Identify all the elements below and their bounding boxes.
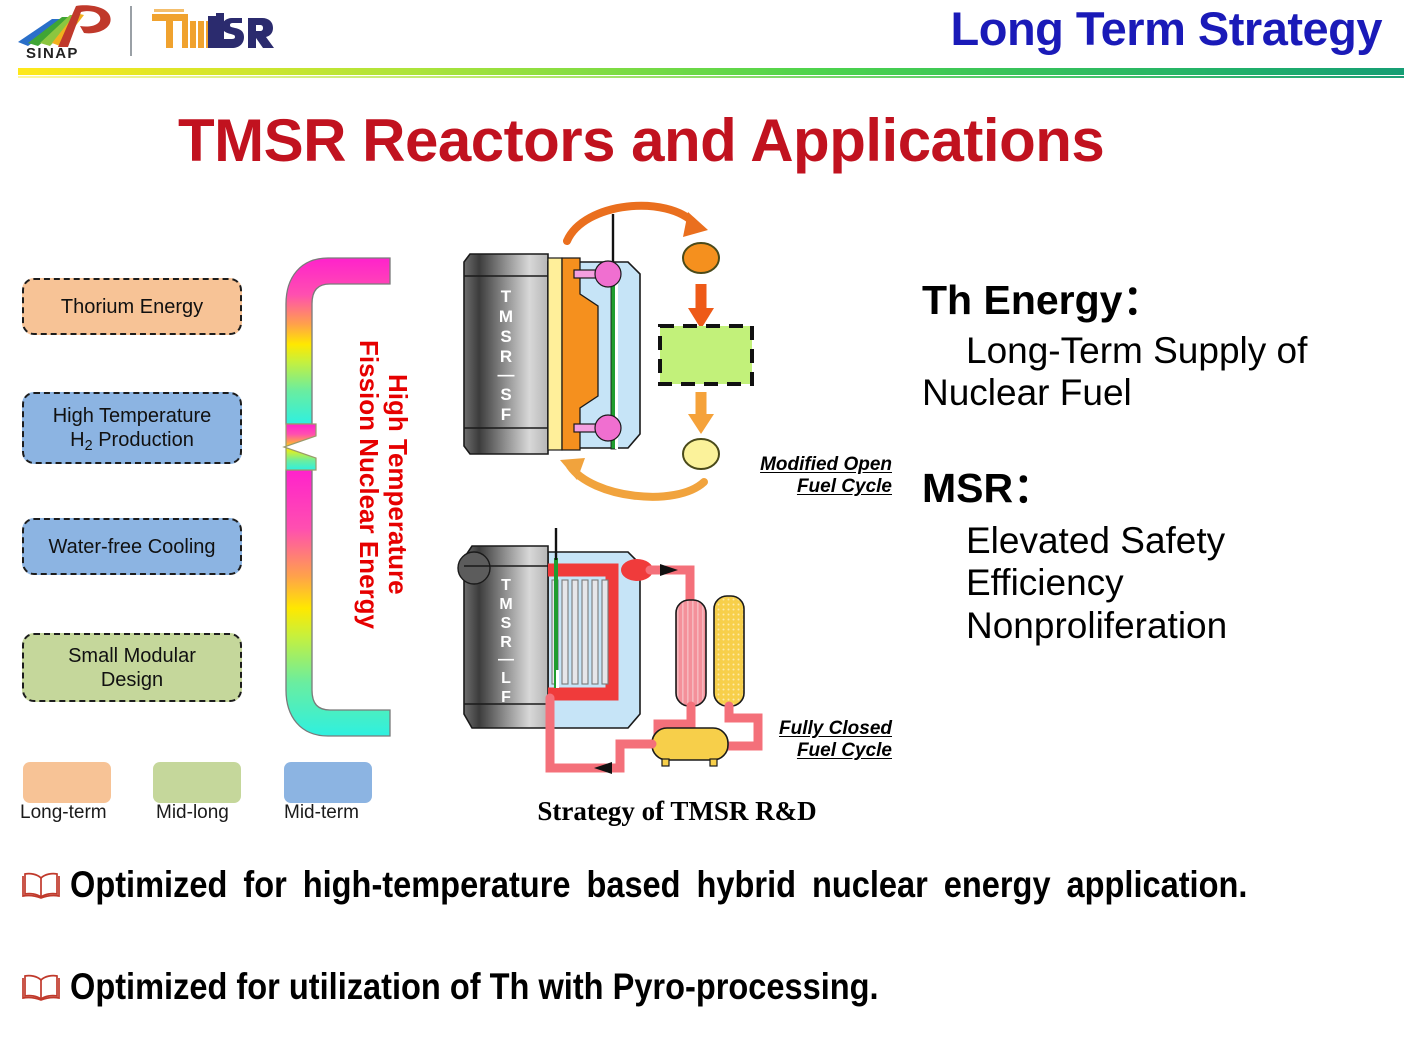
cycle-label-line1: Modified Open: [700, 454, 892, 476]
tmsr-logo: [146, 4, 296, 56]
bullet-text: Optimized for high-temperature based hyb…: [70, 862, 1247, 952]
svg-text:R: R: [500, 347, 512, 366]
th-energy-body-line2: Nuclear Fuel: [922, 372, 1412, 414]
legend-label-mid-term: Mid-term: [284, 802, 359, 824]
svg-text:T: T: [501, 287, 512, 306]
bullet-text: Optimized for utilization of Th with Pyr…: [70, 964, 1247, 1009]
bullet-list: Optimized for high-temperature based hyb…: [12, 862, 1408, 1011]
legend-swatch-mid-term: [284, 762, 372, 803]
msr-item-nonproliferation: Nonproliferation: [922, 605, 1412, 647]
th-energy-heading: Th Energy：: [922, 278, 1412, 324]
legend-label-mid-long: Mid-long: [156, 802, 229, 824]
svg-text:M: M: [499, 307, 513, 326]
center-arrow-label: High Temperature Fission Nuclear Energy: [352, 340, 412, 629]
feature-label: Thorium Energy: [61, 295, 203, 319]
svg-text:S: S: [500, 385, 511, 404]
svg-text:—: —: [498, 365, 515, 384]
feature-label: Water-free Cooling: [48, 535, 215, 559]
svg-text:S: S: [500, 327, 511, 346]
svg-text:F: F: [501, 405, 511, 424]
svg-text:—: —: [498, 651, 514, 668]
right-text-panel: Th Energy： Long-Term Supply of Nuclear F…: [922, 278, 1412, 647]
cycle-label-line1: Fully Closed: [700, 718, 892, 740]
th-energy-body-line1: Long-Term Supply of: [922, 330, 1412, 372]
feature-label-line2: H2 Production: [70, 429, 194, 451]
legend-swatch-mid-long: [153, 762, 241, 803]
feature-label-line2: Design: [101, 669, 163, 691]
header-title: Long Term Strategy: [951, 1, 1382, 56]
feature-box-h2-production[interactable]: High Temperature H2 Production: [22, 392, 242, 464]
msr-heading: MSR：: [922, 466, 1412, 512]
svg-text:T: T: [501, 577, 511, 594]
svg-text:R: R: [500, 634, 512, 651]
legend-swatch-long-term: [23, 762, 111, 803]
svg-text:S: S: [501, 615, 512, 632]
bullet-item: Optimized for utilization of Th with Pyr…: [12, 964, 1408, 1009]
diagram-caption: Strategy of TMSR R&D: [452, 796, 902, 827]
legend-label-long-term: Long-term: [20, 802, 107, 824]
feature-box-water-free-cooling[interactable]: Water-free Cooling: [22, 518, 242, 575]
fully-closed-fuel-cycle-label: Fully Closed Fuel Cycle: [700, 718, 892, 762]
svg-text:L: L: [501, 670, 511, 687]
feature-label: Small Modular Design: [68, 644, 196, 692]
feature-label-line1: Small Modular: [68, 645, 196, 667]
feature-box-small-modular-design[interactable]: Small Modular Design: [22, 633, 242, 702]
feature-label: High Temperature H2 Production: [53, 404, 212, 452]
msr-item-elevated-safety: Elevated Safety: [922, 520, 1412, 562]
svg-text:SINAP: SINAP: [26, 45, 79, 60]
svg-text:M: M: [499, 596, 512, 613]
page-title: TMSR Reactors and Applications: [178, 106, 1104, 175]
svg-text:F: F: [501, 689, 511, 706]
logo-divider: [130, 6, 132, 56]
header-gradient-rule: [18, 68, 1404, 75]
sinap-logo: SINAP: [14, 2, 122, 60]
header-gradient-rule-thin: [18, 76, 1404, 78]
msr-item-efficiency: Efficiency: [922, 562, 1412, 604]
bullet-item: Optimized for high-temperature based hyb…: [12, 862, 1408, 952]
center-arrow-label-line1: High Temperature: [383, 374, 413, 595]
cycle-label-line2: Fuel Cycle: [700, 740, 892, 762]
feature-box-thorium-energy[interactable]: Thorium Energy: [22, 278, 242, 335]
center-arrow-label-line2: Fission Nuclear Energy: [354, 340, 384, 629]
modified-open-fuel-cycle-label: Modified Open Fuel Cycle: [700, 454, 892, 498]
open-book-icon: [12, 964, 70, 1007]
feature-label-line1: High Temperature: [53, 405, 212, 427]
cycle-label-line2: Fuel Cycle: [700, 476, 892, 498]
slide-header: SINAP Long Term Strategy: [0, 0, 1416, 78]
slide-root: SINAP Long Term Strategy TM: [0, 0, 1416, 1042]
open-book-icon: [12, 862, 70, 905]
